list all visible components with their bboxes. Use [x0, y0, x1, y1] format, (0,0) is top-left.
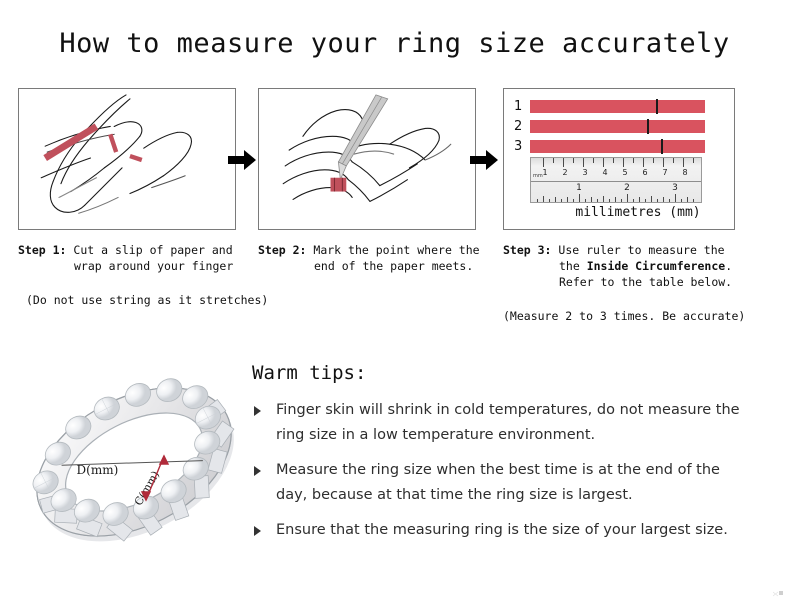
step-2-caption: Step 2: Mark the point where the end of … [258, 242, 490, 274]
step-1-line1: Cut a slip of paper and [73, 243, 232, 257]
step-2-column: Step 2: Mark the point where the end of … [258, 88, 490, 274]
measure-tick-3 [661, 139, 663, 154]
step-3-label: Step 3: [503, 243, 551, 257]
step-3-note: (Measure 2 to 3 times. Be accurate) [503, 308, 753, 324]
step-1-column: Step 1: Cut a slip of paper and wrap aro… [18, 88, 250, 308]
bullet-triangle-icon [254, 526, 261, 536]
page-title: How to measure your ring size accurately [0, 28, 789, 59]
bottom-row: D(mm) D C(mm) Warm tips: Finger skin wil… [0, 350, 789, 600]
ruler-cm-label-6: 6 [642, 168, 647, 177]
hand-marking-with-pen-illustration [259, 89, 475, 229]
step-2-label: Step 2: [258, 243, 306, 257]
measure-tick-1 [656, 99, 658, 114]
tip-text-1: Finger skin will shrink in cold temperat… [276, 402, 740, 443]
step-3-caption: Step 3: Use ruler to measure the the Ins… [503, 242, 735, 290]
ruler-inch-label-3: 3 [672, 183, 678, 193]
measure-tick-2 [647, 119, 649, 134]
tip-item-3: Ensure that the measuring ring is the si… [252, 518, 746, 543]
ruler-scale-cm: mm 1 [531, 158, 701, 181]
tip-text-2: Measure the ring size when the best time… [276, 462, 720, 503]
step-2-line1: Mark the point where the [313, 243, 479, 257]
step-3-line2: the Inside Circumference. [503, 258, 735, 274]
arrow-right-icon-1 [228, 148, 256, 172]
paper-strip-bars: 1 2 3 [514, 99, 728, 159]
bullet-triangle-icon [254, 406, 261, 416]
warm-tips-section: Warm tips: Finger skin will shrink in co… [252, 362, 772, 553]
tip-text-3: Ensure that the measuring ring is the si… [276, 522, 728, 538]
ruler-inch-label-1: 1 [576, 183, 582, 193]
bar-label-3: 3 [514, 139, 530, 154]
diameter-label-text: D(mm) [77, 463, 119, 477]
ruler-graphic: mm 1 [530, 157, 702, 203]
step-3-line3: Refer to the table below. [503, 274, 735, 290]
paper-strip-3 [530, 140, 705, 153]
step-1-panel [18, 88, 236, 230]
inside-circumference-emphasis: Inside Circumference [587, 259, 725, 273]
step-3-line1: Use ruler to measure the [558, 243, 724, 257]
arrow-right-icon-2 [470, 148, 498, 172]
hand-with-paper-strip-illustration [19, 89, 235, 229]
ruler-unit-tag: mm [533, 173, 543, 179]
ring-diagram-illustration: D(mm) D C(mm) [18, 350, 250, 580]
step-3-line2-pre: the [559, 259, 587, 273]
ruler-caption: millimetres (mm) [504, 205, 735, 220]
ruler-cm-label-5: 5 [622, 168, 627, 177]
tip-item-2: Measure the ring size when the best time… [252, 458, 746, 508]
bullet-triangle-icon [254, 466, 261, 476]
ruler-cm-label-1: 1 [542, 168, 547, 177]
ruler-cm-label-8: 8 [682, 168, 687, 177]
corner-watermark-icon [773, 591, 783, 598]
ruler-scale-inch: 1 2 3 [531, 181, 701, 203]
ruler-cm-label-3: 3 [582, 168, 587, 177]
steps-row: Step 1: Cut a slip of paper and wrap aro… [0, 88, 789, 338]
ruler-cm-label-4: 4 [602, 168, 607, 177]
step-1-caption: Step 1: Cut a slip of paper and wrap aro… [18, 242, 250, 274]
bar-row: 3 [514, 139, 728, 154]
step-3-column: 1 2 3 [503, 88, 735, 324]
ruler-cm-label-2: 2 [562, 168, 567, 177]
step-1-label: Step 1: [18, 243, 66, 257]
bar-label-1: 1 [514, 99, 530, 114]
step-1-line2: wrap around your finger [18, 258, 250, 274]
warm-tips-title: Warm tips: [252, 362, 772, 384]
bar-label-2: 2 [514, 119, 530, 134]
tip-item-1: Finger skin will shrink in cold temperat… [252, 398, 746, 448]
bar-row: 1 [514, 99, 728, 114]
paper-strip-2 [530, 120, 705, 133]
step-2-line2: end of the paper meets. [258, 258, 490, 274]
bar-row: 2 [514, 119, 728, 134]
step-3-line2-post: . [725, 259, 732, 273]
step-3-panel: 1 2 3 [503, 88, 735, 230]
step-2-panel [258, 88, 476, 230]
ruler-inch-label-2: 2 [624, 183, 630, 193]
step-1-note: (Do not use string as it stretches) [18, 292, 276, 308]
paper-strip-1 [530, 100, 705, 113]
ruler-cm-label-7: 7 [662, 168, 667, 177]
